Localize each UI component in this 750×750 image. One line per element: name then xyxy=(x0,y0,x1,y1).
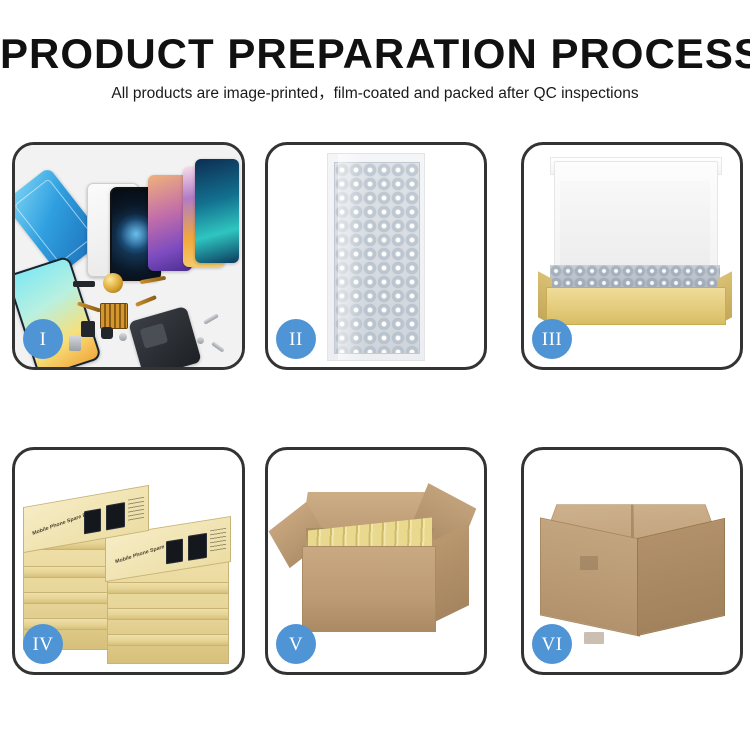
retail-box-screen-image-c xyxy=(166,539,183,565)
carton-hand-hole-top xyxy=(580,556,598,570)
step-badge-6: VI xyxy=(532,624,572,664)
camera-module-part xyxy=(81,321,95,337)
bubble-pouch xyxy=(327,153,425,361)
product-preparation-infographic: PRODUCT PREPARATION PROCESS All products… xyxy=(0,0,750,750)
carton-right-wall xyxy=(433,523,469,623)
header: PRODUCT PREPARATION PROCESS All products… xyxy=(0,0,750,130)
step-panel-3: III xyxy=(521,142,743,370)
page-subtitle: All products are image-printed，film-coat… xyxy=(0,83,750,105)
step-panel-6: VI xyxy=(521,447,743,675)
speaker-coil-part xyxy=(103,273,123,293)
step-panel-4: Mobile Phone Spare Parts Mobile Phone Sp… xyxy=(12,447,245,675)
step-badge-5: V xyxy=(276,624,316,664)
retail-box-screen-image-b xyxy=(106,502,125,530)
retail-box-right-edge-1 xyxy=(107,582,229,594)
carton-front-wall xyxy=(302,546,436,632)
process-step-grid: I II III xyxy=(0,140,750,680)
step-panel-2: II xyxy=(265,142,487,370)
carton-right-face xyxy=(637,518,725,636)
step-badge-1: I xyxy=(23,319,63,359)
inner-box-front-wall xyxy=(546,287,726,325)
step-badge-3: III xyxy=(532,319,572,359)
pouch-highlight xyxy=(338,154,364,360)
retail-box-right-edge-2 xyxy=(107,608,229,620)
sim-tray-part xyxy=(69,335,81,351)
step-badge-2: II xyxy=(276,319,316,359)
retail-box-screen-image-a xyxy=(84,508,101,534)
step-panel-5: V xyxy=(265,447,487,675)
carton-left-face xyxy=(540,517,640,636)
inner-box-interior xyxy=(560,181,710,265)
retail-box-spec-text-a xyxy=(128,497,144,522)
screw-part-b xyxy=(197,337,204,344)
vibrator-part xyxy=(101,327,113,339)
step-panel-1: I xyxy=(12,142,245,370)
carton-hand-hole-bottom xyxy=(584,632,604,644)
retail-box-right-edge-3 xyxy=(107,634,229,646)
retail-box-spec-text-b xyxy=(210,528,226,553)
retail-box-screen-image-d xyxy=(188,533,207,561)
page-title: PRODUCT PREPARATION PROCESS xyxy=(0,30,750,78)
screw-part-a xyxy=(119,333,127,341)
battery-connector-part xyxy=(73,281,95,287)
step-badge-4: IV xyxy=(23,624,63,664)
connector-chip-part xyxy=(100,303,128,329)
phone-display-teal xyxy=(195,159,239,263)
